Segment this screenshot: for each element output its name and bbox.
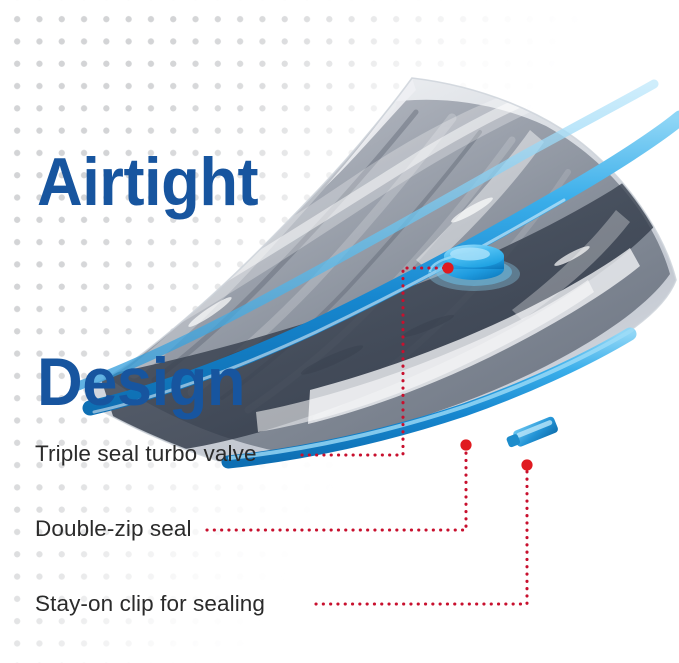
page-title: Airtight Design xyxy=(37,18,258,548)
stay-on-clip xyxy=(505,416,560,451)
page-title-line-1: Airtight xyxy=(37,150,258,216)
page-title-line-2: Design xyxy=(37,350,258,416)
callout-label-double-zip-seal: Double-zip seal xyxy=(35,518,192,541)
callout-label-triple-seal-turbo-valve: Triple seal turbo valve xyxy=(35,443,257,466)
callout-label-stay-on-clip-for-sealing: Stay-on clip for sealing xyxy=(35,593,265,616)
airtight-design-infographic: Triple seal turbo valve Double-zip seal … xyxy=(0,0,679,663)
